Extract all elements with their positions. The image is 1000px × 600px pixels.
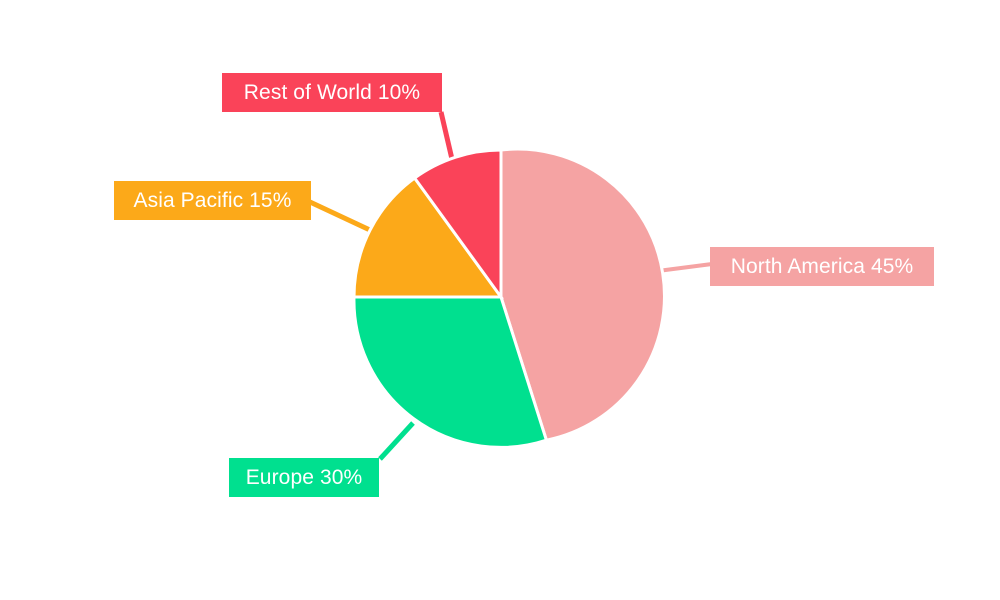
pie-label-north-america[interactable]: North America 45% bbox=[710, 247, 934, 286]
pie-chart-svg bbox=[0, 0, 1000, 600]
pie-label-rest-of-world[interactable]: Rest of World 10% bbox=[222, 73, 442, 112]
pie-label-europe[interactable]: Europe 30% bbox=[229, 458, 379, 497]
leader-line-europe bbox=[380, 423, 413, 459]
chart-canvas: North America 45% Europe 30% Asia Pacifi… bbox=[0, 0, 1000, 600]
pie-label-asia-pacific[interactable]: Asia Pacific 15% bbox=[114, 181, 311, 220]
leader-line-asia-pacific bbox=[310, 202, 372, 231]
